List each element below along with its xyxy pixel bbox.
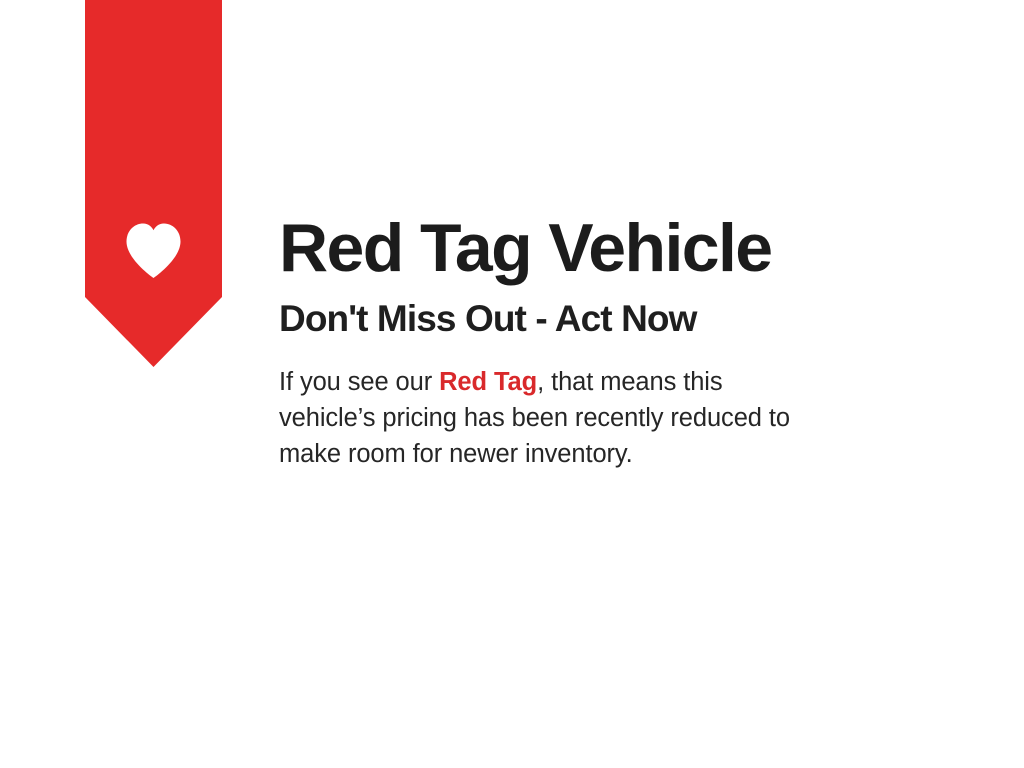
ribbon-shape: [85, 0, 222, 367]
page-subtitle: Don't Miss Out - Act Now: [279, 300, 979, 337]
red-tag-ribbon: [85, 0, 222, 367]
page-title: Red Tag Vehicle: [279, 214, 979, 282]
red-tag-highlight: Red Tag: [439, 368, 537, 396]
body-paragraph: If you see our Red Tag, that means this …: [279, 364, 824, 472]
text-column: Red Tag Vehicle Don't Miss Out - Act Now…: [279, 214, 979, 472]
slide-canvas: Red Tag Vehicle Don't Miss Out - Act Now…: [0, 0, 1024, 768]
body-text-lead: If you see our: [279, 368, 439, 396]
